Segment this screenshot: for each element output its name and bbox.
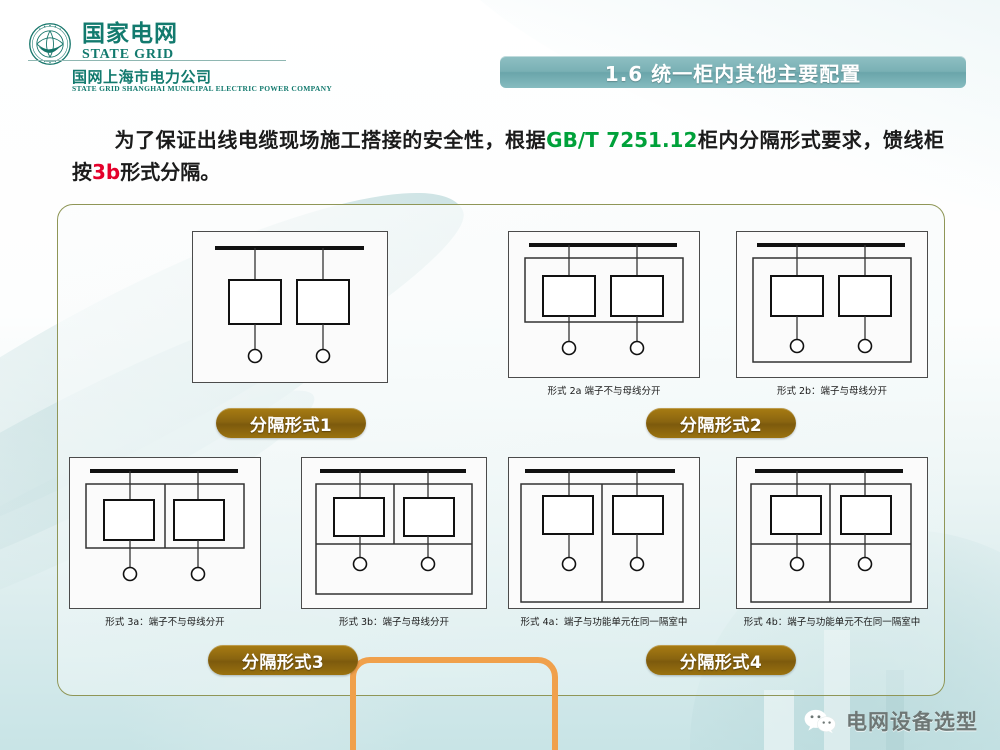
figure-form2b-caption: 形式 2b：端子与母线分开: [736, 383, 928, 397]
brand-name-cn: 国家电网: [82, 22, 178, 46]
figure-form2b-frame: [736, 231, 928, 378]
figure-form1: [192, 231, 388, 383]
paragraph-part-1: 为了保证出线电缆现场施工搭接的安全性，根据: [114, 128, 546, 152]
figure-form3a: 形式 3a：端子不与母线分开: [69, 457, 261, 609]
figure-form4a-caption: 形式 4a：端子与功能单元在同一隔室中: [508, 614, 700, 628]
separation-label-3-text: 分隔形式3: [242, 648, 324, 673]
company-name-en: STATE GRID SHANGHAI MUNICIPAL ELECTRIC P…: [72, 84, 332, 93]
wechat-badge: 电网设备选型: [803, 706, 978, 736]
brand-text-block: 国家电网 STATE GRID: [82, 22, 178, 64]
figure-form4a: 形式 4a：端子与功能单元在同一隔室中: [508, 457, 700, 609]
wechat-icon: [803, 708, 837, 734]
figure-form2b: 形式 2b：端子与母线分开: [736, 231, 928, 378]
diagram-form3b: [302, 458, 485, 607]
separation-label-1: 分隔形式1: [216, 408, 366, 438]
separation-label-2: 分隔形式2: [646, 408, 796, 438]
standard-reference: GB/T 7251.12: [546, 128, 697, 152]
figure-form4b-frame: [736, 457, 928, 609]
figure-form2a-caption: 形式 2a 端子不与母线分开: [508, 383, 700, 397]
figure-form3b-frame: [301, 457, 487, 609]
diagram-form4a: [509, 458, 698, 607]
diagram-container: 形式 2a 端子不与母线分开 形式 2b：端子与母线分开: [57, 204, 945, 696]
figure-form2a-frame: [508, 231, 700, 378]
brand-name-en: STATE GRID: [82, 47, 178, 64]
diagram-form3a: [70, 458, 259, 607]
separation-label-2-text: 分隔形式2: [680, 411, 762, 436]
bg-bar-3: [764, 690, 794, 750]
paragraph-part-3: 形式分隔。: [120, 160, 220, 184]
separation-label-3: 分隔形式3: [208, 645, 358, 675]
figure-form3a-frame: [69, 457, 261, 609]
separation-label-4: 分隔形式4: [646, 645, 796, 675]
highlight-ring-form3b: [350, 657, 558, 750]
figure-form4b: 形式 4b：端子与功能单元不在同一隔室中: [736, 457, 928, 609]
diagram-form2b: [737, 232, 926, 376]
diagram-form4b: [737, 458, 926, 607]
figure-form3b-caption: 形式 3b：端子与母线分开: [301, 614, 487, 628]
diagram-form1: [193, 232, 386, 381]
figure-form1-frame: [192, 231, 388, 383]
slide-canvas: 国家电网 STATE GRID 国网上海市电力公司 STATE GRID SHA…: [0, 0, 1000, 750]
diagram-form2a: [509, 232, 698, 376]
wechat-account-name: 电网设备选型: [846, 706, 978, 736]
page-title: 1.6 统一柜内其他主要配置: [605, 58, 861, 87]
separation-label-4-text: 分隔形式4: [680, 648, 762, 673]
separation-label-1-text: 分隔形式1: [250, 411, 332, 436]
figure-form3b: 形式 3b：端子与母线分开: [301, 457, 487, 609]
header-divider: [28, 60, 286, 61]
figure-form4a-frame: [508, 457, 700, 609]
slide-title-bar: 1.6 统一柜内其他主要配置: [500, 56, 966, 88]
slide-header: 国家电网 STATE GRID 国网上海市电力公司 STATE GRID SHA…: [0, 0, 1000, 108]
separation-form-code: 3b: [92, 160, 120, 184]
figure-form2a: 形式 2a 端子不与母线分开: [508, 231, 700, 378]
figure-form3a-caption: 形式 3a：端子不与母线分开: [69, 614, 261, 628]
figure-form4b-caption: 形式 4b：端子与功能单元不在同一隔室中: [736, 614, 928, 628]
body-paragraph: 为了保证出线电缆现场施工搭接的安全性，根据GB/T 7251.12柜内分隔形式要…: [72, 124, 944, 189]
